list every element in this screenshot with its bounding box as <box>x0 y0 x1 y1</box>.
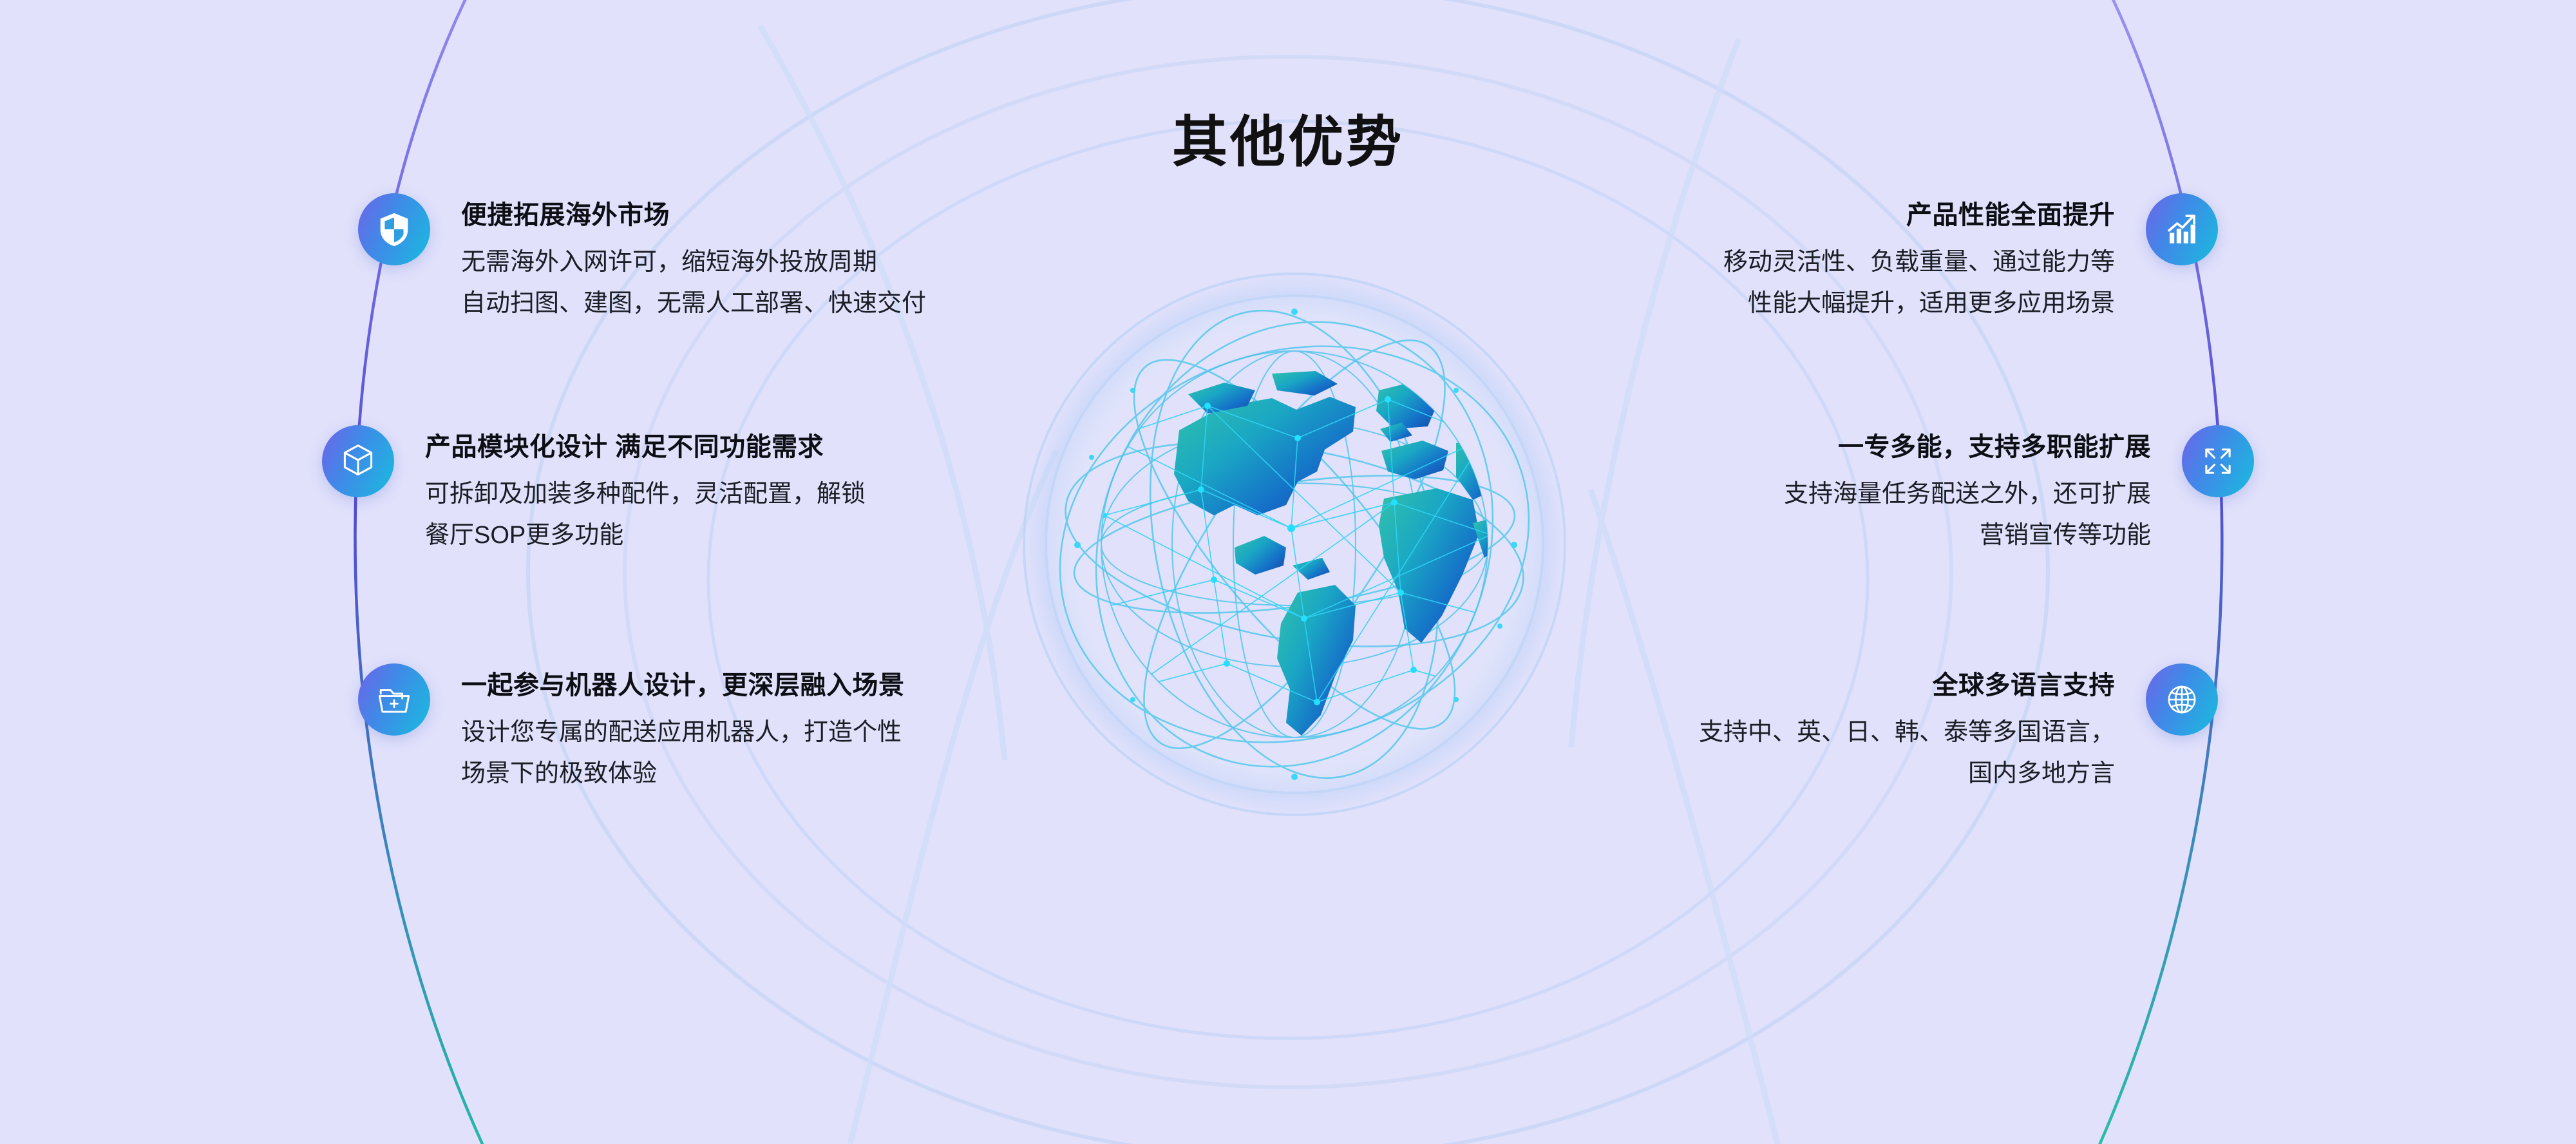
feature-line: 可拆卸及加装多种配件，灵活配置，解锁 <box>425 476 866 513</box>
feature-item-modular-design[interactable]: 产品模块化设计 满足不同功能需求 可拆卸及加装多种配件，灵活配置，解锁 餐厅SO… <box>322 425 866 554</box>
feature-line: 自动扫图、建图，无需人工部署、快速交付 <box>461 285 926 323</box>
shield-icon[interactable] <box>358 193 430 265</box>
orbit-arc-right <box>2093 0 2222 1144</box>
feature-line: 设计您专属的配送应用机器人，打造个性 <box>461 714 905 752</box>
feature-title: 产品模块化设计 满足不同功能需求 <box>425 428 866 467</box>
feature-line: 性能大幅提升，适用更多应用场景 <box>1723 285 2115 323</box>
feature-line: 营销宣传等功能 <box>1784 517 2151 555</box>
folder-plus-icon[interactable] <box>358 663 430 736</box>
globe-icon[interactable] <box>2146 663 2218 736</box>
feature-text-block: 产品模块化设计 满足不同功能需求 可拆卸及加装多种配件，灵活配置，解锁 餐厅SO… <box>425 425 866 554</box>
feature-text-block: 一起参与机器人设计，更深层融入场景 设计您专属的配送应用机器人，打造个性 场景下… <box>461 663 905 792</box>
feature-line: 场景下的极致体验 <box>461 756 905 793</box>
orbit-arc-left <box>355 0 489 1144</box>
feature-item-performance-upgrade[interactable]: 产品性能全面提升 移动灵活性、负载重量、通过能力等 性能大幅提升，适用更多应用场… <box>1723 193 2218 322</box>
feature-title: 全球多语言支持 <box>1699 666 2115 705</box>
feature-text-block: 产品性能全面提升 移动灵活性、负载重量、通过能力等 性能大幅提升，适用更多应用场… <box>1723 193 2115 322</box>
feature-title: 一专多能，支持多职能扩展 <box>1784 428 2151 467</box>
feature-line: 无需海外入网许可，缩短海外投放周期 <box>461 244 926 281</box>
feature-title: 便捷拓展海外市场 <box>461 196 926 235</box>
feature-item-codesign-robot[interactable]: 一起参与机器人设计，更深层融入场景 设计您专属的配送应用机器人，打造个性 场景下… <box>358 663 905 792</box>
feature-item-multilanguage-support[interactable]: 全球多语言支持 支持中、英、日、韩、泰等多国语言， 国内多地方言 <box>1699 663 2218 792</box>
feature-title: 一起参与机器人设计，更深层融入场景 <box>461 666 905 705</box>
advantages-infographic: 其他优势 <box>0 0 2576 1144</box>
feature-line: 移动灵活性、负载重量、通过能力等 <box>1723 244 2115 281</box>
feature-title: 产品性能全面提升 <box>1723 196 2115 235</box>
feature-item-overseas-market[interactable]: 便捷拓展海外市场 无需海外入网许可，缩短海外投放周期 自动扫图、建图，无需人工部… <box>358 193 926 322</box>
feature-line: 餐厅SOP更多功能 <box>425 517 866 555</box>
page-title: 其他优势 <box>0 115 2576 170</box>
feature-text-block: 全球多语言支持 支持中、英、日、韩、泰等多国语言， 国内多地方言 <box>1699 663 2115 792</box>
feature-line: 支持海量任务配送之外，还可扩展 <box>1784 476 2151 513</box>
feature-text-block: 便捷拓展海外市场 无需海外入网许可，缩短海外投放周期 自动扫图、建图，无需人工部… <box>461 193 926 322</box>
feature-line: 支持中、英、日、韩、泰等多国语言， <box>1699 714 2115 752</box>
feature-line: 国内多地方言 <box>1699 756 2115 793</box>
growth-chart-icon[interactable] <box>2146 193 2218 265</box>
cube-icon[interactable] <box>322 425 394 497</box>
feature-text-block: 一专多能，支持多职能扩展 支持海量任务配送之外，还可扩展 营销宣传等功能 <box>1784 425 2151 554</box>
expand-arrows-icon[interactable] <box>2182 425 2254 497</box>
feature-item-multifunction-expansion[interactable]: 一专多能，支持多职能扩展 支持海量任务配送之外，还可扩展 营销宣传等功能 <box>1784 425 2254 554</box>
world-network-globe <box>995 245 1594 844</box>
